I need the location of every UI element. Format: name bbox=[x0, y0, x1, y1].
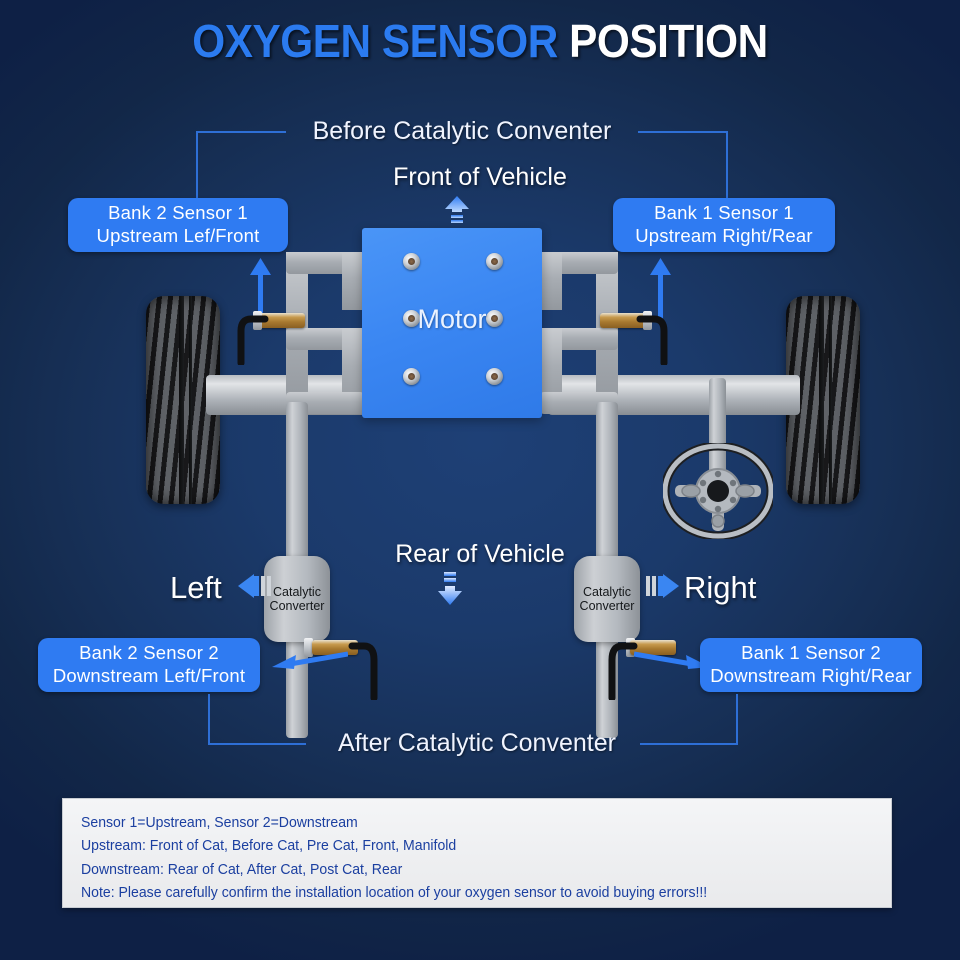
engine-bolt-bottom-right bbox=[486, 368, 503, 385]
downstream-left-pointer-arrow-icon bbox=[272, 648, 348, 674]
callout-upstream-left-line1: Bank 2 Sensor 1 bbox=[72, 202, 284, 225]
callout-upstream-right-line1: Bank 1 Sensor 1 bbox=[617, 202, 831, 225]
sensor-upstream-left-cable bbox=[235, 309, 271, 365]
callout-downstream-left[interactable]: Bank 2 Sensor 2 Downstream Left/Front bbox=[38, 638, 260, 692]
downpipe-right bbox=[596, 402, 618, 562]
before-cat-label: Before Catalytic Conventer bbox=[292, 117, 632, 146]
note-line-1: Sensor 1=Upstream, Sensor 2=Downstream bbox=[81, 812, 849, 835]
diagram-canvas: OXYGEN SENSOR POSITION Before Catalytic … bbox=[0, 0, 960, 960]
after-cat-label: After Catalytic Conventer bbox=[312, 729, 642, 758]
front-of-vehicle-label: Front of Vehicle bbox=[360, 163, 600, 192]
callout-downstream-left-line2: Downstream Left/Front bbox=[42, 665, 256, 688]
sensor-upstream-right[interactable] bbox=[600, 305, 670, 365]
downstream-right-pointer-arrow-icon bbox=[634, 648, 710, 674]
sensor-upstream-left[interactable] bbox=[235, 305, 305, 365]
top-bracket-line-left bbox=[196, 131, 286, 133]
top-bracket-line-right bbox=[638, 131, 728, 133]
engine-bolt-top-right bbox=[486, 253, 503, 270]
callout-downstream-right[interactable]: Bank 1 Sensor 2 Downstream Right/Rear bbox=[700, 638, 922, 692]
engine-label: Motor bbox=[362, 304, 542, 335]
cat-left-line1: Catalytic bbox=[273, 585, 321, 599]
rear-of-vehicle-label: Rear of Vehicle bbox=[360, 540, 600, 569]
right-side-label: Right bbox=[684, 570, 756, 606]
note-line-3: Downstream: Rear of Cat, After Cat, Post… bbox=[81, 859, 849, 882]
callout-upstream-left-line2: Upstream Lef/Front bbox=[72, 225, 284, 248]
bottom-bracket-line-right bbox=[640, 743, 738, 745]
front-direction-arrow-icon bbox=[440, 196, 474, 226]
page-title: OXYGEN SENSOR POSITION bbox=[38, 14, 921, 68]
cat-right-line1: Catalytic bbox=[583, 585, 631, 599]
left-direction-arrow-icon bbox=[238, 572, 272, 600]
catalytic-converter-left-label: Catalytic Converter bbox=[270, 585, 325, 614]
note-line-2: Upstream: Front of Cat, Before Cat, Pre … bbox=[81, 835, 849, 858]
bottom-bracket-riser-left bbox=[208, 694, 210, 743]
title-blue-part: OXYGEN SENSOR bbox=[192, 15, 558, 67]
note-line-4: Note: Please carefully confirm the insta… bbox=[81, 882, 849, 905]
title-white-part: POSITION bbox=[569, 15, 768, 67]
bottom-bracket-line-left bbox=[208, 743, 306, 745]
right-direction-arrow-icon bbox=[645, 572, 679, 600]
exhaust-runner-left-a bbox=[342, 252, 364, 310]
steering-wheel-icon bbox=[663, 443, 773, 539]
callout-upstream-right[interactable]: Bank 1 Sensor 1 Upstream Right/Rear bbox=[613, 198, 835, 252]
cat-right-line2: Converter bbox=[580, 599, 635, 613]
catalytic-converter-right-label: Catalytic Converter bbox=[580, 585, 635, 614]
catalytic-converter-left[interactable]: Catalytic Converter bbox=[264, 556, 330, 642]
left-side-label: Left bbox=[170, 570, 222, 606]
callout-downstream-right-line2: Downstream Right/Rear bbox=[704, 665, 918, 688]
bottom-bracket-riser-right bbox=[736, 694, 738, 743]
callout-downstream-left-line1: Bank 2 Sensor 2 bbox=[42, 642, 256, 665]
engine-bolt-top-left bbox=[403, 253, 420, 270]
engine-block[interactable]: Motor bbox=[362, 228, 542, 418]
callout-downstream-right-line1: Bank 1 Sensor 2 bbox=[704, 642, 918, 665]
rear-direction-arrow-icon bbox=[433, 572, 467, 606]
cat-left-line2: Converter bbox=[270, 599, 325, 613]
sensor-upstream-right-cable bbox=[634, 309, 670, 365]
callout-upstream-left[interactable]: Bank 2 Sensor 1 Upstream Lef/Front bbox=[68, 198, 288, 252]
sensor-downstream-left-cable bbox=[348, 636, 384, 700]
legend-note-box: Sensor 1=Upstream, Sensor 2=Downstream U… bbox=[62, 798, 892, 908]
downpipe-left bbox=[286, 402, 308, 562]
exhaust-runner-right-a bbox=[540, 252, 562, 310]
callout-upstream-right-line2: Upstream Right/Rear bbox=[617, 225, 831, 248]
engine-bolt-bottom-left bbox=[403, 368, 420, 385]
